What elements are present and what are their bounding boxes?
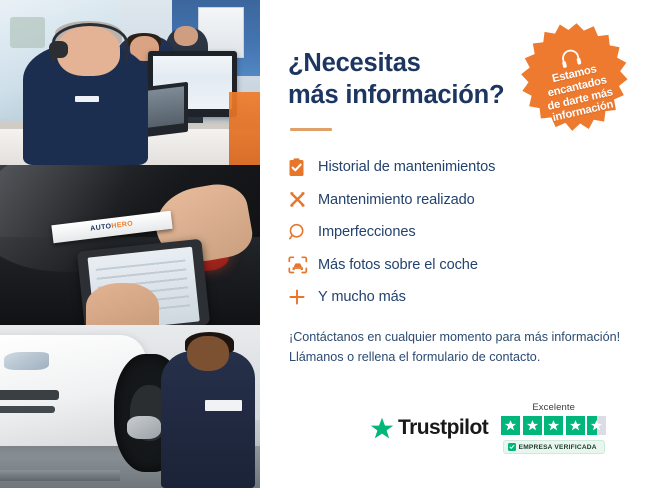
tools-cross-icon: [288, 190, 318, 209]
mechanic-glove: [127, 416, 161, 439]
agent-headset-earcup: [49, 41, 67, 58]
agent-name-badge: [75, 96, 98, 103]
autohero-ruler-inspection-photo: AUTOHERO: [0, 165, 260, 325]
content-panel: ¿Necesitas más información? Historial de…: [260, 0, 650, 488]
car-grille-upper: [0, 390, 59, 400]
inspector-hand-lower: [86, 283, 159, 325]
list-item: Mantenimiento realizado: [288, 184, 624, 217]
trustpilot-rating: Excelente: [501, 402, 606, 454]
mechanic-head: [187, 336, 229, 370]
rating-star-filled: [523, 416, 542, 435]
car-lift-ramp: [0, 470, 120, 481]
rating-star-filled: [544, 416, 563, 435]
car-headlight: [4, 352, 49, 370]
list-item: Y mucho más: [288, 281, 624, 314]
verified-check-icon: [508, 443, 516, 451]
contact-paragraph: ¡Contáctanos en cualquier momento para m…: [289, 327, 624, 368]
magnifier-icon: [288, 223, 318, 241]
starburst-shape: [515, 22, 638, 145]
mechanic-wheel-inspection-photo: [0, 325, 260, 488]
list-item-label: Y mucho más: [318, 289, 406, 305]
trustpilot-rating-label: Excelente: [532, 402, 575, 413]
rating-star-filled: [566, 416, 585, 435]
autohero-ruler-label: AUTOHERO: [90, 220, 134, 232]
page-title: ¿Necesitas más información?: [288, 48, 513, 111]
status-badge: EMPRESA VERIFICADA: [503, 440, 605, 454]
list-item-label: Más fotos sobre el coche: [318, 257, 478, 273]
trustpilot-widget[interactable]: Trustpilot Excelente: [370, 402, 606, 454]
orange-equipment: [229, 92, 260, 165]
list-item-label: Historial de mantenimientos: [318, 159, 495, 175]
mechanic-body: [161, 351, 255, 488]
list-item: Historial de mantenimientos: [288, 151, 624, 184]
trustpilot-logo[interactable]: Trustpilot: [370, 416, 488, 440]
page-title-line-2: más información?: [288, 81, 504, 109]
list-item: Imperfecciones: [288, 216, 624, 249]
call-center-agent-headset-photo: [0, 0, 260, 165]
list-item-label: Mantenimiento realizado: [318, 192, 475, 208]
title-underline-rule: [290, 128, 332, 131]
feature-list: Historial de mantenimientos M: [288, 151, 624, 314]
information-request-banner: AUTOHERO: [0, 0, 650, 488]
trustpilot-star-icon: [370, 417, 394, 440]
contact-line-1: ¡Contáctanos en cualquier momento para m…: [289, 327, 624, 347]
car-photo-frame-icon: [288, 256, 318, 274]
list-item-label: Imperfecciones: [318, 224, 416, 240]
trustpilot-brand-name: Trustpilot: [398, 416, 488, 440]
contact-line-2: Llámanos o rellena el formulario de cont…: [289, 347, 624, 367]
clipboard-check-icon: [288, 158, 318, 177]
list-item: Más fotos sobre el coche: [288, 249, 624, 282]
mechanic-uniform-logo: [205, 400, 241, 411]
rating-star-filled: [501, 416, 520, 435]
verified-label: EMPRESA VERIFICADA: [519, 444, 597, 451]
trustpilot-star-rating: [501, 416, 606, 435]
background-colleague-two-head: [174, 26, 197, 46]
page-title-line-1: ¿Necesitas: [288, 49, 421, 77]
car-grille-lower: [0, 406, 55, 414]
promo-starburst-badge: Estamos encantados de darte más informac…: [515, 22, 638, 145]
photo-collage: AUTOHERO: [0, 0, 260, 488]
rating-star-half: [587, 416, 606, 435]
plus-icon: [288, 288, 318, 306]
